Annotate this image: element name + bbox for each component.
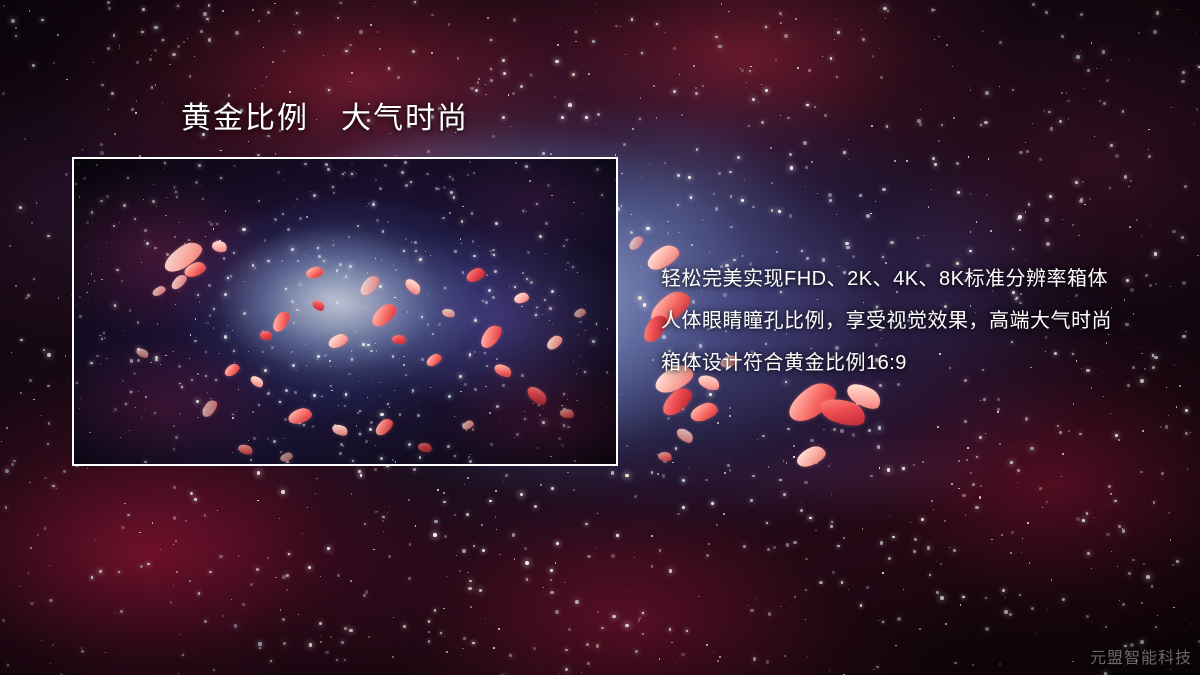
petal — [658, 383, 696, 419]
petal — [794, 443, 828, 470]
slide-canvas: 黄金比例 大气时尚 轻松完美实现FHD、2K、4K、8K标准分辨率箱体 人体眼睛… — [0, 0, 1200, 675]
petal — [675, 426, 696, 446]
body-line-2: 人体眼睛瞳孔比例，享受视觉效果，高端大气时尚 — [661, 300, 1181, 342]
petal — [657, 451, 673, 463]
slide-title: 黄金比例 大气时尚 — [181, 102, 469, 135]
body-copy-block: 轻松完美实现FHD、2K、4K、8K标准分辨率箱体 人体眼睛瞳孔比例，享受视觉效… — [661, 258, 1181, 384]
petal — [688, 400, 720, 424]
petal — [783, 376, 842, 427]
body-line-1: 轻松完美实现FHD、2K、4K、8K标准分辨率箱体 — [661, 258, 1181, 300]
framed-photo — [72, 157, 618, 466]
photo-vignette — [74, 159, 616, 464]
petal — [817, 393, 868, 430]
body-line-3: 箱体设计符合黄金比例16:9 — [661, 342, 1181, 384]
watermark-logo-text: 元盟智能科技 — [1090, 644, 1192, 668]
petal — [627, 234, 646, 252]
